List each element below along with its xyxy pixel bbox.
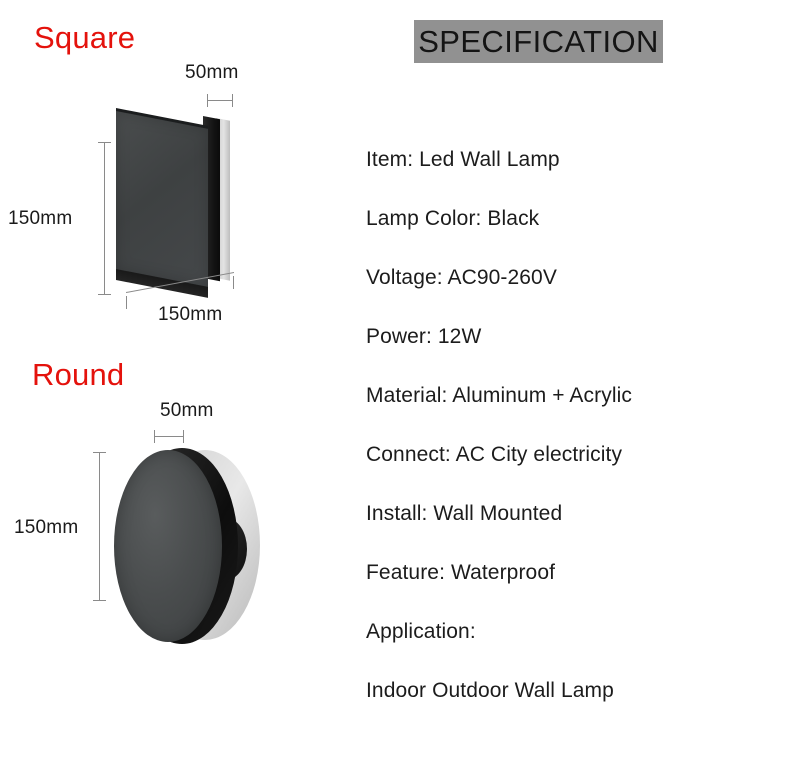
spec-item-power: Power: 12W xyxy=(366,325,786,349)
round-height-dimension-line xyxy=(99,452,100,600)
square-height-dimension-label: 150mm xyxy=(8,208,72,230)
square-height-dimension-line xyxy=(104,142,105,294)
round-height-dimension-label: 150mm xyxy=(14,517,78,539)
round-depth-cap-left xyxy=(154,430,155,443)
square-depth-dimension-label: 50mm xyxy=(185,62,239,84)
square-depth-dimension-line xyxy=(207,100,233,101)
round-height-cap-bottom xyxy=(93,600,106,601)
round-height-cap-top xyxy=(93,452,106,453)
spec-item-connect: Connect: AC City electricity xyxy=(366,443,786,467)
square-depth-cap-right xyxy=(232,94,233,107)
specification-title: SPECIFICATION xyxy=(418,24,659,60)
spec-item-material: Material: Aluminum + Acrylic xyxy=(366,384,786,408)
square-lamp-front-face xyxy=(116,111,208,287)
square-height-cap-top xyxy=(98,142,111,143)
round-lamp-front-face xyxy=(114,450,222,642)
specification-banner: SPECIFICATION xyxy=(414,20,663,63)
spec-item-application-value: Indoor Outdoor Wall Lamp xyxy=(366,679,786,703)
square-width-cap-left xyxy=(126,296,127,309)
round-depth-cap-right xyxy=(183,430,184,443)
round-depth-dimension-line xyxy=(154,436,184,437)
square-lamp-figure xyxy=(0,0,360,350)
square-width-dimension-label: 150mm xyxy=(158,304,222,326)
spec-item-feature: Feature: Waterproof xyxy=(366,561,786,585)
round-depth-dimension-label: 50mm xyxy=(160,400,214,422)
spec-item-item: Item: Led Wall Lamp xyxy=(366,148,786,172)
square-height-cap-bottom xyxy=(98,294,111,295)
spec-item-lamp-color: Lamp Color: Black xyxy=(366,207,786,231)
specification-list: Item: Led Wall Lamp Lamp Color: Black Vo… xyxy=(366,148,786,703)
spec-item-voltage: Voltage: AC90-260V xyxy=(366,266,786,290)
spec-item-install: Install: Wall Mounted xyxy=(366,502,786,526)
square-depth-cap-left xyxy=(207,94,208,107)
spec-item-application: Application: xyxy=(366,620,786,644)
square-width-cap-right xyxy=(233,276,234,289)
